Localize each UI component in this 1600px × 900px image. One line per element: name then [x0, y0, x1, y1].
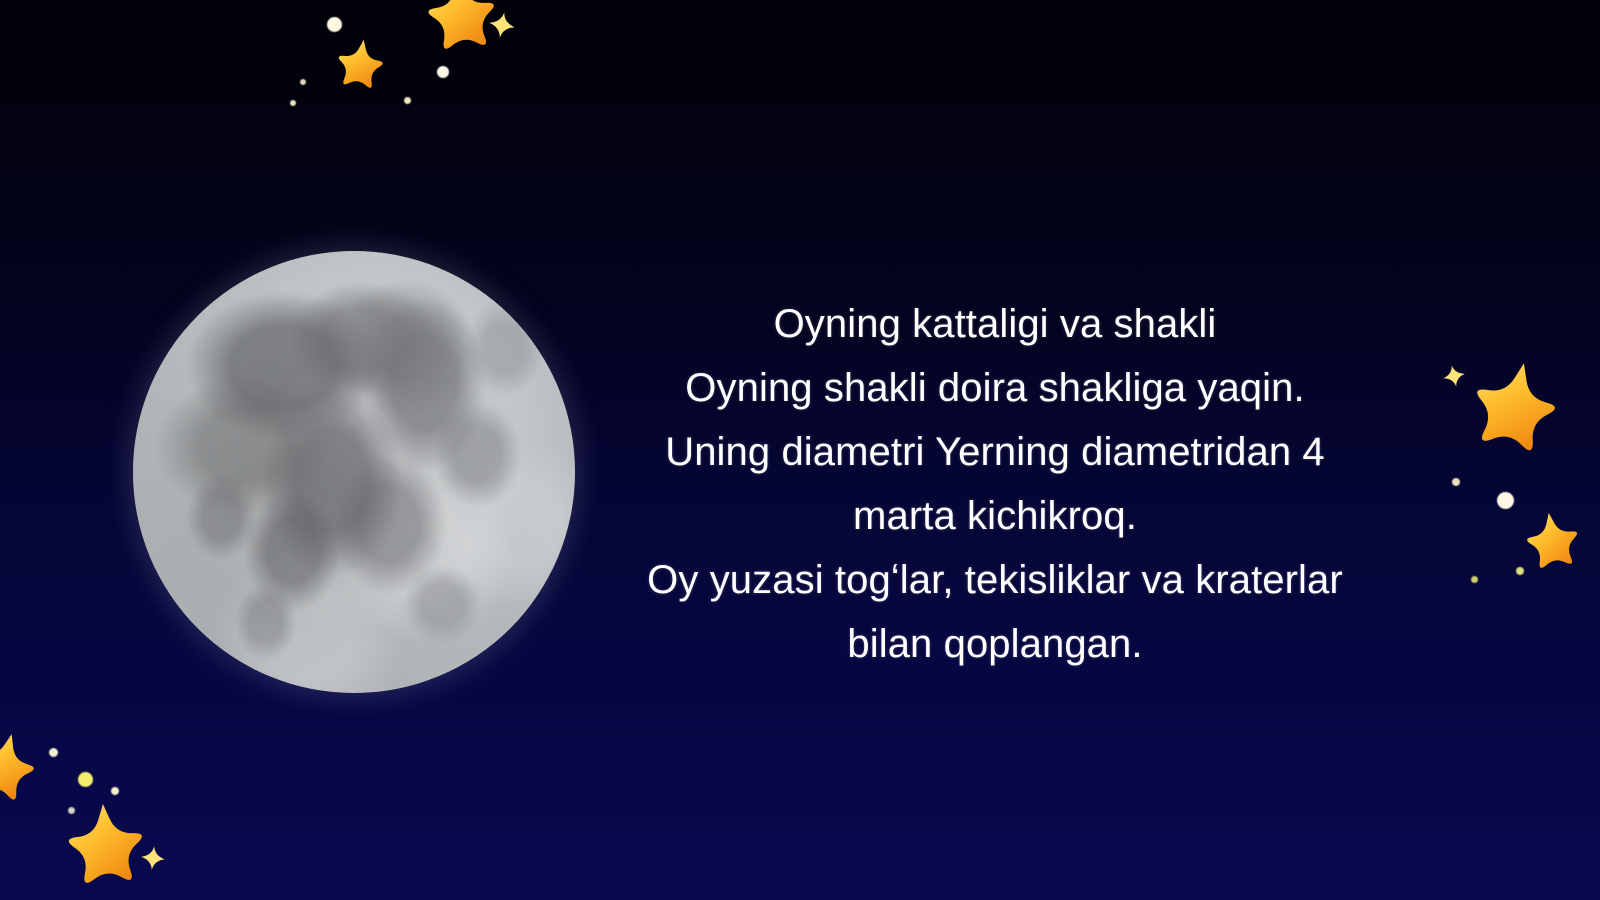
star-bottom-left-edge-icon	[0, 722, 50, 817]
star-right-large-icon	[1452, 348, 1575, 471]
dot-9-icon	[1471, 576, 1478, 583]
sparkle-right-mid-icon	[1441, 363, 1467, 389]
text-line-diameter-2: marta kichikroq.	[580, 484, 1410, 548]
sparkle-bottom-icon	[140, 845, 166, 871]
text-line-diameter-1: Uning diametri Yerning diametridan 4	[580, 420, 1410, 484]
star-top-center-large-icon	[415, 0, 510, 64]
dot-11-icon	[78, 772, 93, 787]
lesson-text-block: Oyning kattaligi va shakli Oyning shakli…	[580, 292, 1410, 676]
dot-5-icon	[300, 79, 306, 85]
dot-4-icon	[404, 97, 411, 104]
dot-6-icon	[1452, 478, 1460, 486]
star-top-left-medium-icon	[327, 33, 393, 99]
moon-limb-highlight	[133, 251, 575, 693]
sparkle-top-right-icon	[487, 10, 517, 40]
moon-disc	[133, 251, 575, 693]
slide-canvas: Oyning kattaligi va shakli Oyning shakli…	[0, 0, 1600, 900]
text-line-surface-1: Oy yuzasi togʻlar, tekisliklar va krater…	[580, 548, 1410, 612]
dot-8-icon	[1516, 567, 1524, 575]
dot-13-icon	[68, 807, 75, 814]
moon-image	[133, 251, 575, 693]
text-line-title: Oyning kattaligi va shakli	[580, 292, 1410, 356]
dot-10-icon	[49, 748, 58, 757]
dot-3-icon	[290, 100, 296, 106]
dot-12-icon	[111, 787, 119, 795]
text-line-shape: Oyning shakli doira shakliga yaqin.	[580, 356, 1410, 420]
dot-7-icon	[1497, 492, 1514, 509]
dot-1-icon	[327, 17, 342, 32]
star-bottom-left-large-icon	[55, 797, 157, 899]
star-right-small-icon	[1516, 506, 1591, 581]
text-line-surface-2: bilan qoplangan.	[580, 612, 1410, 676]
dot-2-icon	[437, 66, 449, 78]
